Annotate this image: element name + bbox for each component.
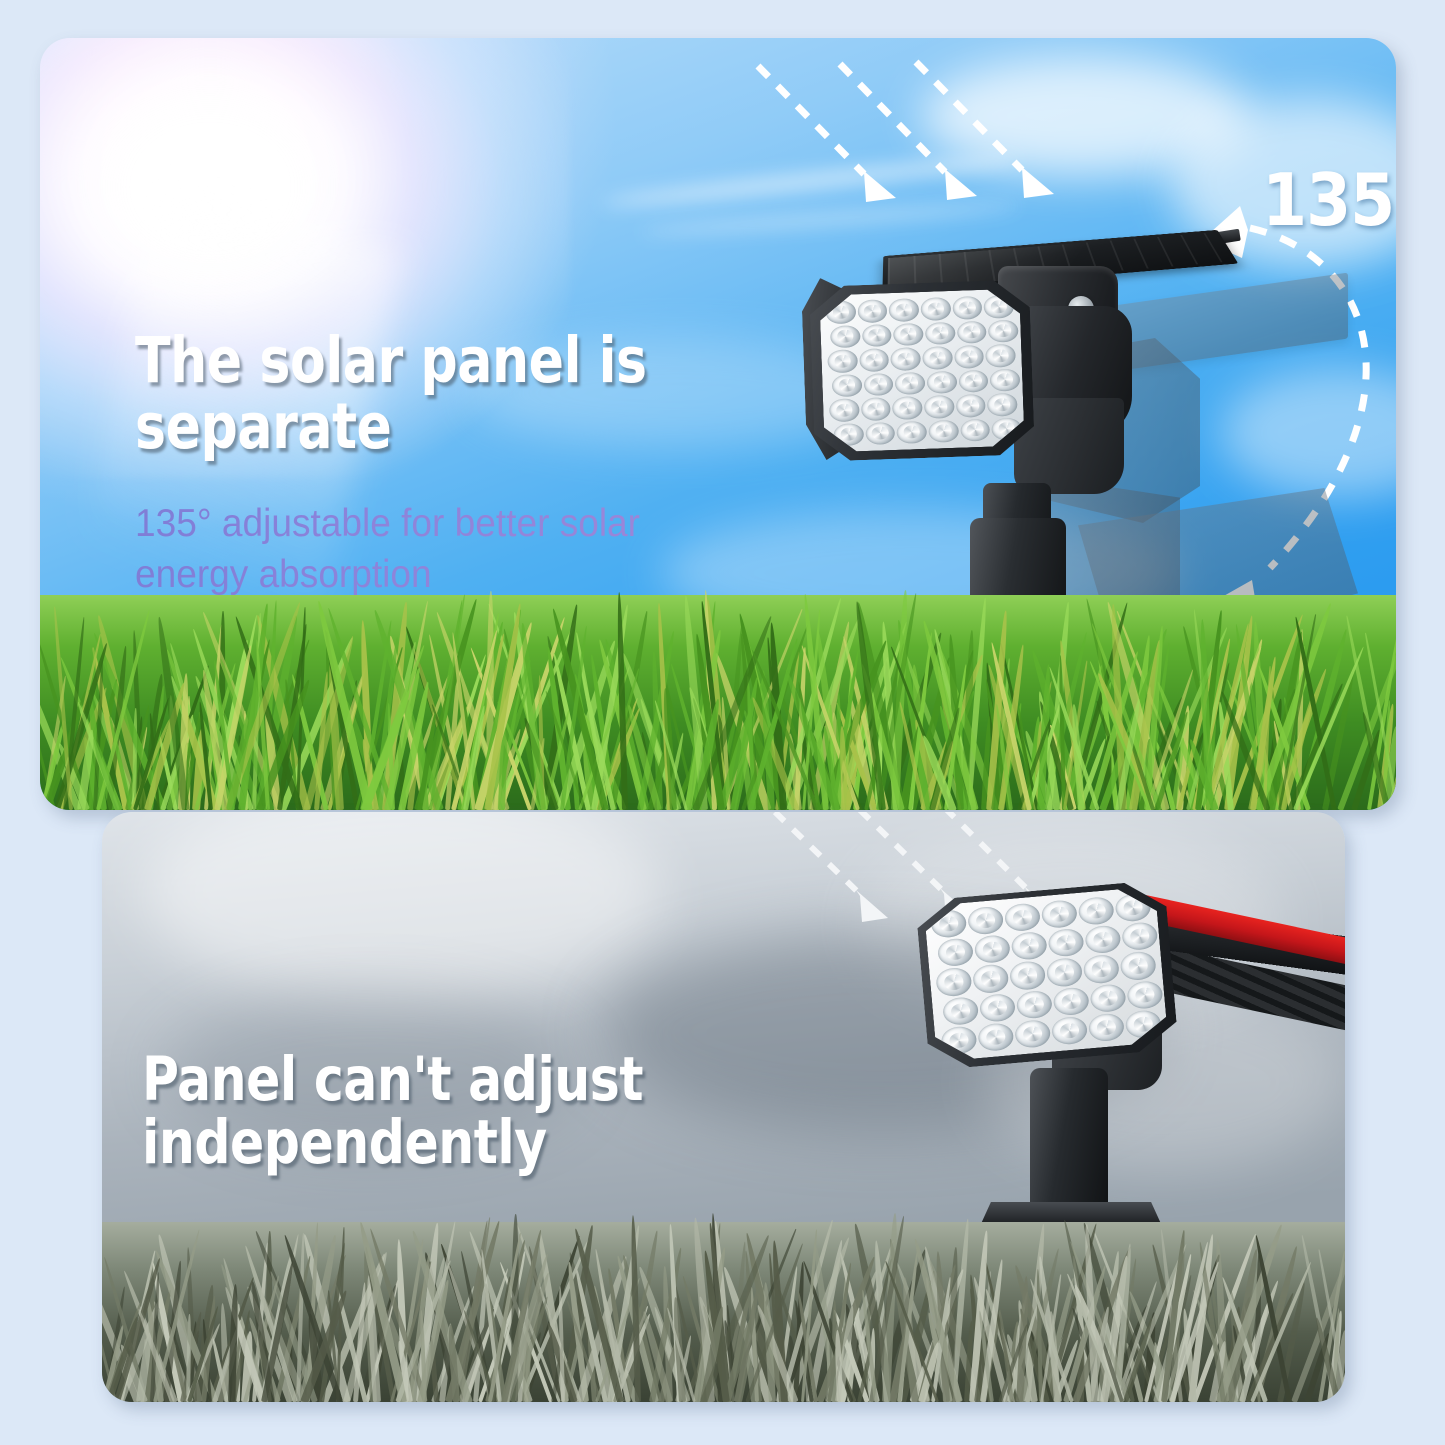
led-lens [861,397,891,421]
led-lens [990,368,1020,392]
led-lens [1051,1015,1088,1045]
grass-green [40,595,1396,810]
led-lens [891,347,921,371]
led-lens [859,348,889,372]
led-lens [862,324,892,348]
led-lens [1014,1019,1051,1049]
led-lens [1011,931,1048,961]
led-lens [1120,951,1157,981]
led-lens [974,934,1011,964]
led-head-face [924,886,1169,1062]
led-lens [827,349,857,373]
led-lens [1083,954,1120,984]
page-title-fixed: Panel can't adjust independently [142,1048,643,1175]
led-lens [1053,986,1090,1016]
led-lens [958,369,988,393]
led-lens [889,298,919,322]
page-title-adjustable: The solar panel is separate [135,328,647,459]
led-lens [832,374,862,398]
led-lens [977,1022,1014,1052]
led-lens [956,394,986,418]
led-lens [897,420,927,444]
led-lens [942,996,979,1026]
led-lens [857,299,887,323]
panel-card-adjustable: The solar panel is separate 135° adjusta… [40,38,1396,810]
led-lens [972,964,1009,994]
led-lens [987,393,1017,417]
led-lens [1089,983,1126,1013]
led-lens [1046,957,1083,987]
led-lens [830,325,860,349]
led-lens [1084,925,1121,955]
subtitle-adjustable: 135° adjustable for better solar energy … [135,498,640,601]
led-lens [1088,1012,1125,1042]
comparison-graphic: The solar panel is separate 135° adjusta… [0,0,1445,1445]
led-lens [920,297,950,321]
led-lens [895,371,925,395]
led-lens [988,319,1018,343]
led-lens [979,992,1016,1022]
led-lens [927,370,957,394]
led-lens [1004,902,1041,932]
led-lens [1047,928,1084,958]
led-lens [922,346,952,370]
led-lens [928,419,958,443]
led-lens [985,344,1015,368]
cloud [920,56,1250,176]
led-lens [863,373,893,397]
led-lens [954,345,984,369]
grass-gray [102,1222,1345,1402]
mount-pole [1030,1068,1108,1218]
led-lens [1009,961,1046,991]
led-lens [1041,899,1078,929]
led-lens [1016,989,1053,1019]
led-lens [1078,896,1115,926]
cloud-gray [142,812,662,1002]
led-lens [893,322,923,346]
led-lens [957,320,987,344]
led-lens [829,398,859,422]
led-head-face [819,289,1024,453]
led-lens [892,396,922,420]
led-lens [967,906,1004,936]
led-lens [937,938,974,968]
led-lens [1121,921,1158,951]
led-lens [935,967,972,997]
led-lens [960,418,990,442]
led-lens [924,395,954,419]
panel-card-fixed: Panel can't adjust independently [102,812,1345,1402]
led-lens [952,296,982,320]
led-lens [930,909,967,939]
led-lens [865,421,895,445]
led-lens [1126,980,1163,1010]
led-lens [925,321,955,345]
